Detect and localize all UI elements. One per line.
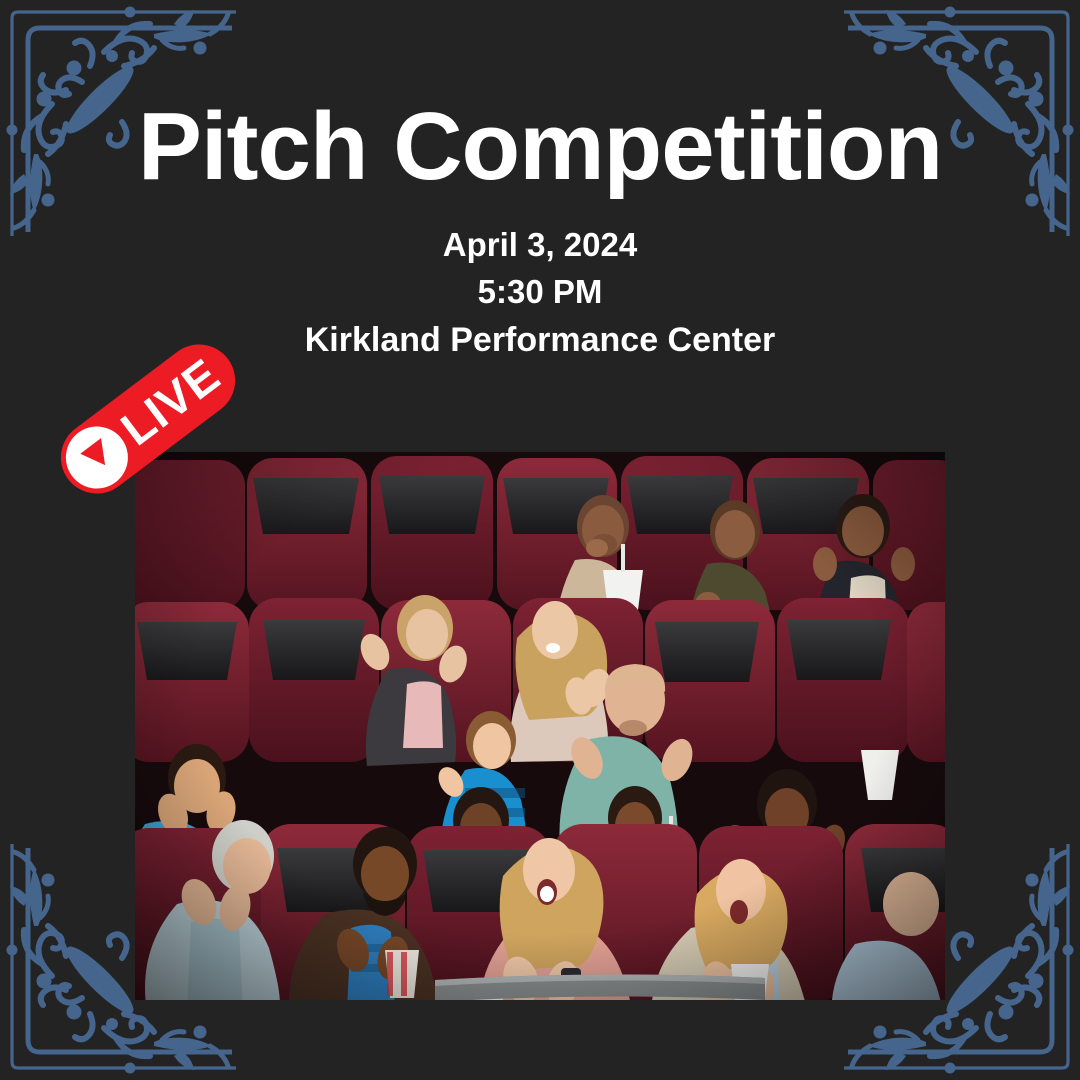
event-date: April 3, 2024 [0,222,1080,269]
event-details: April 3, 2024 5:30 PM Kirkland Performan… [0,222,1080,364]
page-title: Pitch Competition [0,96,1080,198]
event-time: 5:30 PM [0,269,1080,316]
event-poster: Pitch Competition April 3, 2024 5:30 PM … [0,0,1080,1080]
title-block: Pitch Competition [0,96,1080,198]
play-triangle-icon [80,438,115,473]
event-venue: Kirkland Performance Center [0,316,1080,364]
audience-photo [135,452,945,1000]
